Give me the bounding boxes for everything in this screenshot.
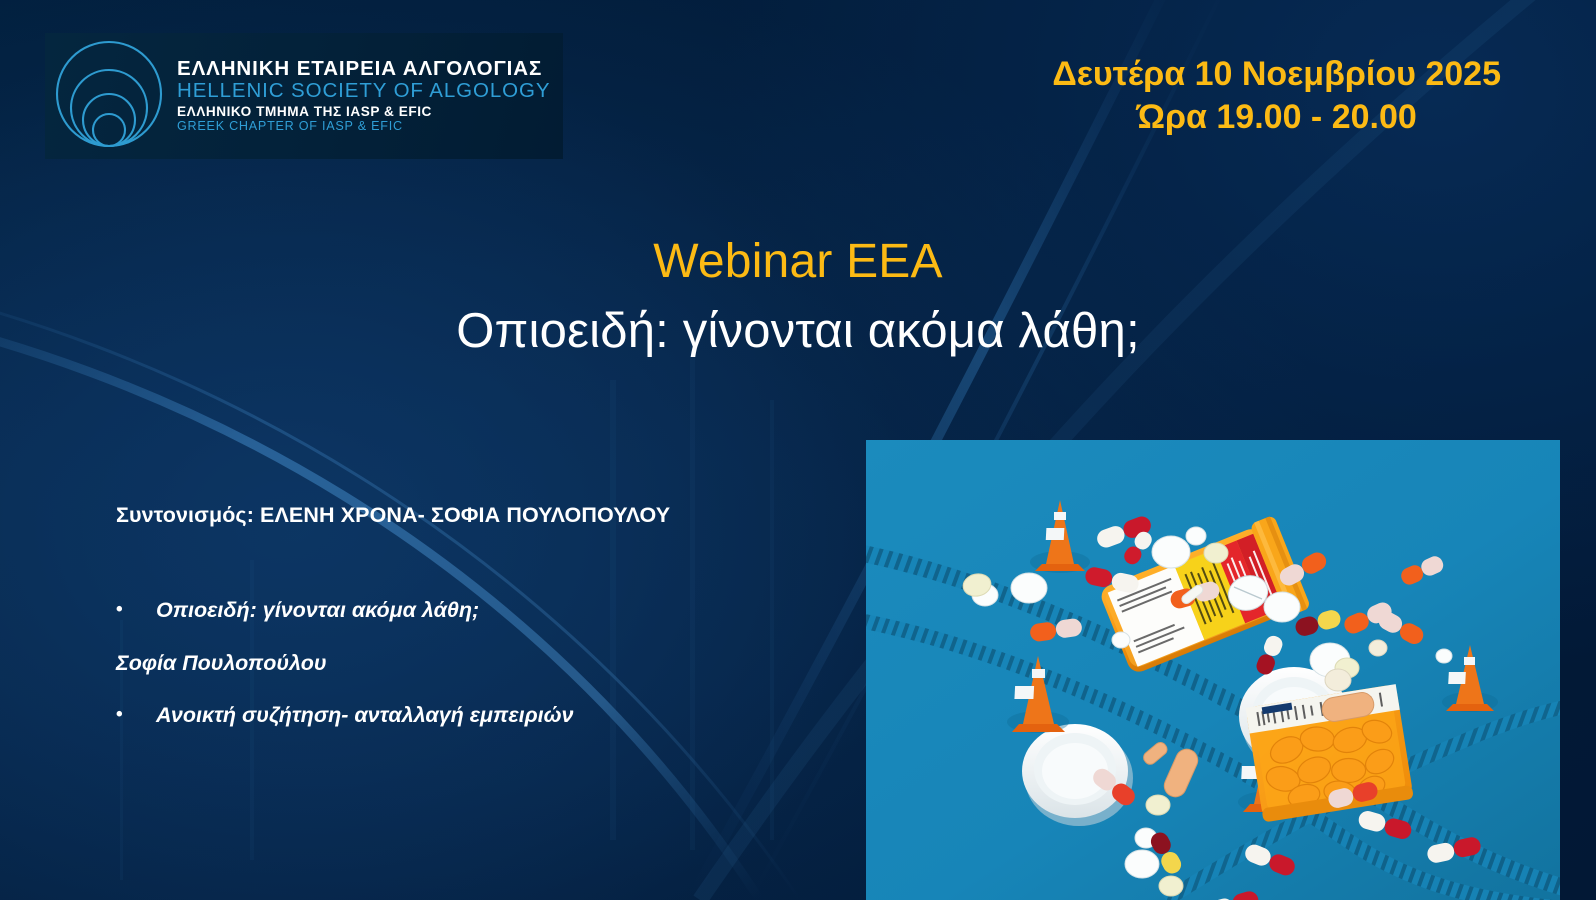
pills-photo xyxy=(866,440,1560,900)
list-item: • Οπιοειδή: γίνονται ακόμα λάθη; xyxy=(116,600,816,622)
webinar-label-title: Webinar ΕΕΑ xyxy=(0,234,1596,289)
agenda-list: • Οπιοειδή: γίνονται ακόμα λάθη; Σοφία Π… xyxy=(116,600,816,727)
list-item: • Ανοικτή συζήτηση- ανταλλαγή εμπειριών xyxy=(116,705,816,727)
bullet-dot-icon: • xyxy=(116,705,156,725)
moderators-line: Συντονισμός: ΕΛΕΝΗ ΧΡΟΝΑ- ΣΟΦΙΑ ΠΟΥΛΟΠΟΥ… xyxy=(116,503,670,528)
logo-line-greek-chapter: ΕΛΛΗΝΙΚΟ ΤΜΗΜΑ ΤΗΣ IASP & EFIC xyxy=(177,105,550,119)
logo-line-english-name: HELLENIC SOCIETY OF ALGOLOGY xyxy=(177,81,550,102)
event-time: Ώρα 19.00 - 20.00 xyxy=(1052,96,1501,139)
society-logo-text: ΕΛΛΗΝΙΚΗ ΕΤΑΙΡΕΙΑ ΑΛΓΟΛΟΓΙΑΣ HELLENIC SO… xyxy=(177,59,550,134)
event-date-time-block: Δευτέρα 10 Νοεμβρίου 2025 Ώρα 19.00 - 20… xyxy=(1052,53,1501,139)
society-logo-block: ΕΛΛΗΝΙΚΗ ΕΤΑΙΡΕΙΑ ΑΛΓΟΛΟΓΙΑΣ HELLENIC SO… xyxy=(45,33,563,159)
pills-photo-illustration xyxy=(866,440,1560,900)
bullet-dot-icon: • xyxy=(116,600,156,620)
logo-line-english-chapter: GREEK CHAPTER OF IASP & EFIC xyxy=(177,120,550,133)
speaker-name: Σοφία Πουλοπούλου xyxy=(116,653,816,675)
list-item-label: Οπιοειδή: γίνονται ακόμα λάθη; xyxy=(156,600,479,622)
list-item-label: Ανοικτή συζήτηση- ανταλλαγή εμπειριών xyxy=(156,705,573,727)
page-title: Οπιοειδή: γίνονται ακόμα λάθη; xyxy=(0,303,1596,359)
event-date: Δευτέρα 10 Νοεμβρίου 2025 xyxy=(1052,53,1501,96)
nested-circles-logo-icon xyxy=(49,36,169,156)
logo-line-greek-name: ΕΛΛΗΝΙΚΗ ΕΤΑΙΡΕΙΑ ΑΛΓΟΛΟΓΙΑΣ xyxy=(177,59,550,80)
webinar-announcement-slide: ΕΛΛΗΝΙΚΗ ΕΤΑΙΡΕΙΑ ΑΛΓΟΛΟΓΙΑΣ HELLENIC SO… xyxy=(0,0,1596,900)
